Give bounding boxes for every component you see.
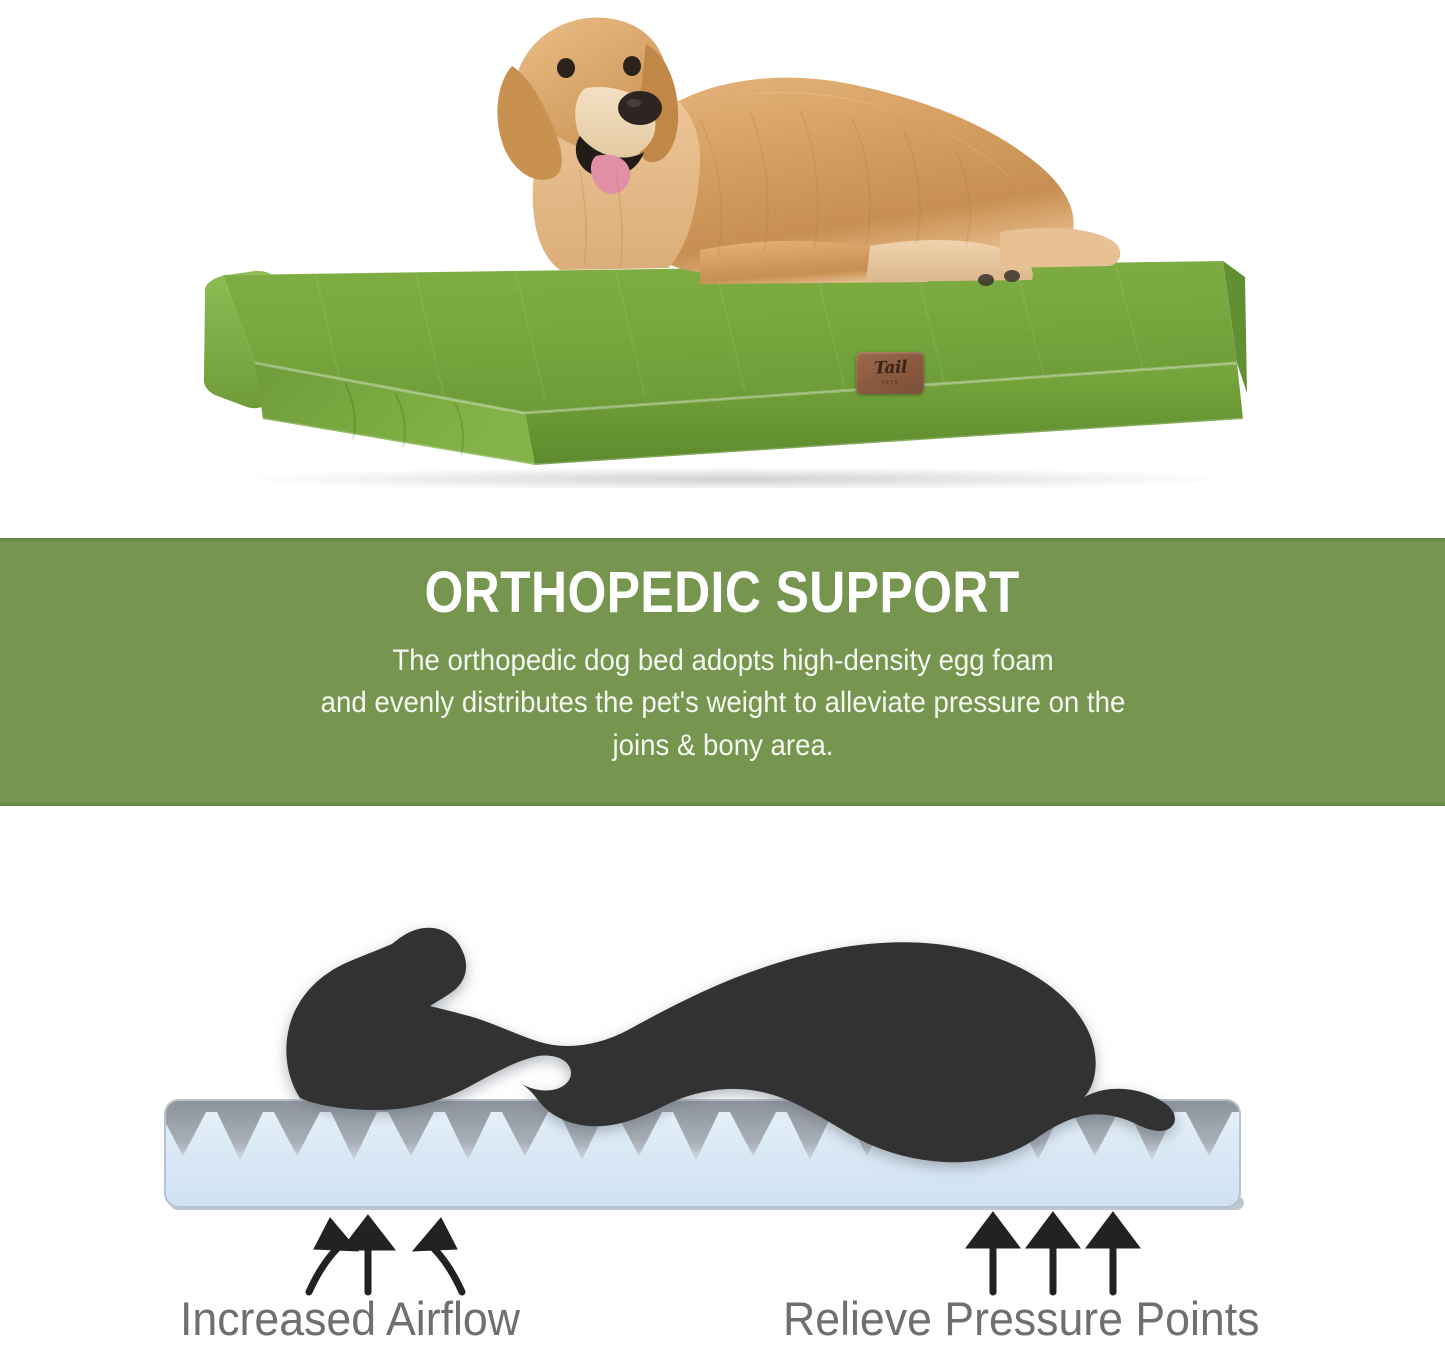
pressure-arrows (966, 1212, 1140, 1292)
pressure-arrow-2-head (1026, 1212, 1080, 1248)
airflow-arrows (309, 1215, 462, 1292)
golden-retriever-photo (400, 0, 1120, 330)
banner-title: ORTHOPEDIC SUPPORT (425, 563, 1020, 624)
dog-rear-paw (1000, 228, 1120, 268)
logo-subtext: PETS (881, 380, 898, 386)
golden-retriever-graphic (400, 0, 1120, 330)
label-relieve-pressure-points: Relieve Pressure Points (783, 1295, 1259, 1342)
foam-diagram-section (0, 806, 1445, 1349)
banner-line-3: joins & bony area. (226, 725, 1220, 768)
foam-cross-section-diagram (0, 806, 1445, 1349)
dog-right-eye (623, 56, 641, 76)
logo-wordmark: Tail (873, 359, 907, 377)
infographic-page: Tail PETS (0, 0, 1445, 1349)
brand-logo-tag: Tail PETS (856, 352, 924, 394)
airflow-arrow-curved-right-head (413, 1218, 457, 1251)
product-photo-section: Tail PETS (0, 0, 1445, 538)
banner-line-1: The orthopedic dog bed adopts high-densi… (226, 640, 1220, 683)
label-increased-airflow: Increased Airflow (180, 1295, 520, 1342)
egg-foam-pad (160, 1100, 1246, 1210)
dog-left-eye (557, 58, 575, 78)
pressure-arrow-3-head (1086, 1212, 1140, 1248)
dog-nose (618, 91, 662, 125)
airflow-arrow-center-head (341, 1215, 395, 1250)
banner-description: The orthopedic dog bed adopts high-densi… (226, 640, 1220, 768)
dog-nose-shine (627, 99, 641, 107)
pressure-arrow-1-head (966, 1212, 1020, 1248)
orthopedic-support-banner: ORTHOPEDIC SUPPORT The orthopedic dog be… (0, 538, 1445, 806)
banner-line-2: and evenly distributes the pet's weight … (226, 682, 1220, 725)
